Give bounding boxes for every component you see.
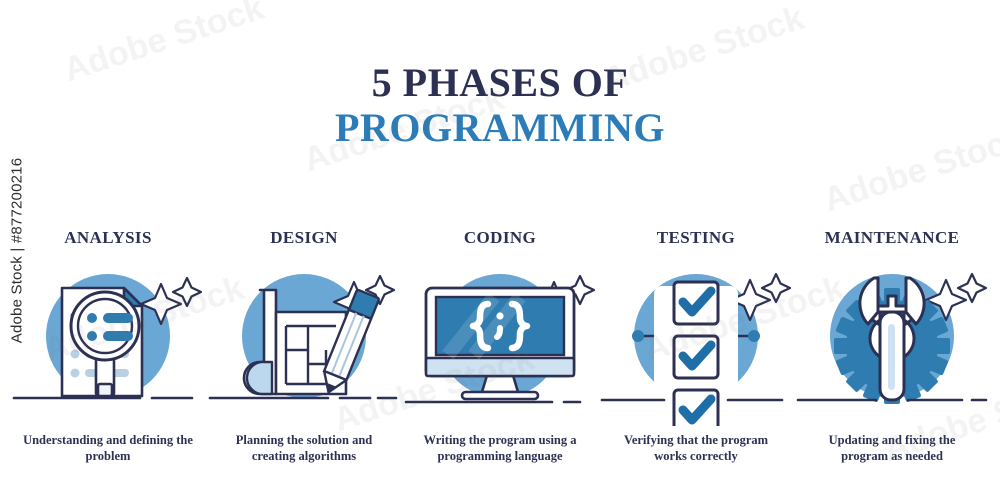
watermark-tile: Adobe Stock — [59, 0, 269, 90]
phase-label-testing: TESTING — [657, 228, 735, 248]
phase-label-design: DESIGN — [270, 228, 338, 248]
title-line-2: PROGRAMMING — [0, 104, 1000, 151]
wrench-gear-icon — [796, 254, 988, 426]
magnifier-document-icon — [12, 254, 204, 426]
phase-caption-coding: Writing the program using a programming … — [413, 432, 588, 464]
phase-maintenance: MAINTENANCE — [796, 228, 988, 464]
phases-row: ANALYSIS — [12, 228, 988, 464]
blueprint-pencil-icon — [208, 254, 400, 426]
phase-label-analysis: ANALYSIS — [64, 228, 152, 248]
phase-design: DESIGN — [208, 228, 400, 464]
checklist-icon — [600, 254, 792, 426]
watermark-tile: Adobe Stock — [819, 119, 1000, 220]
phase-testing: TESTING Verifying t — [600, 228, 792, 464]
phase-analysis: ANALYSIS — [12, 228, 204, 464]
watermark-tile: Adobe Stock — [299, 79, 509, 180]
phase-caption-testing: Verifying that the program works correct… — [609, 432, 784, 464]
phase-caption-analysis: Understanding and defining the problem — [21, 432, 196, 464]
watermark-tile: Adobe Stock — [599, 0, 809, 100]
monitor-braces-icon — [404, 254, 596, 426]
phase-caption-maintenance: Updating and fixing the program as neede… — [805, 432, 980, 464]
title-line-1: 5 PHASES OF — [0, 62, 1000, 104]
phase-label-maintenance: MAINTENANCE — [825, 228, 960, 248]
phase-label-coding: CODING — [464, 228, 536, 248]
phase-caption-design: Planning the solution and creating algor… — [217, 432, 392, 464]
phase-coding: CODING Wri — [404, 228, 596, 464]
page-title: 5 PHASES OF PROGRAMMING — [0, 62, 1000, 151]
